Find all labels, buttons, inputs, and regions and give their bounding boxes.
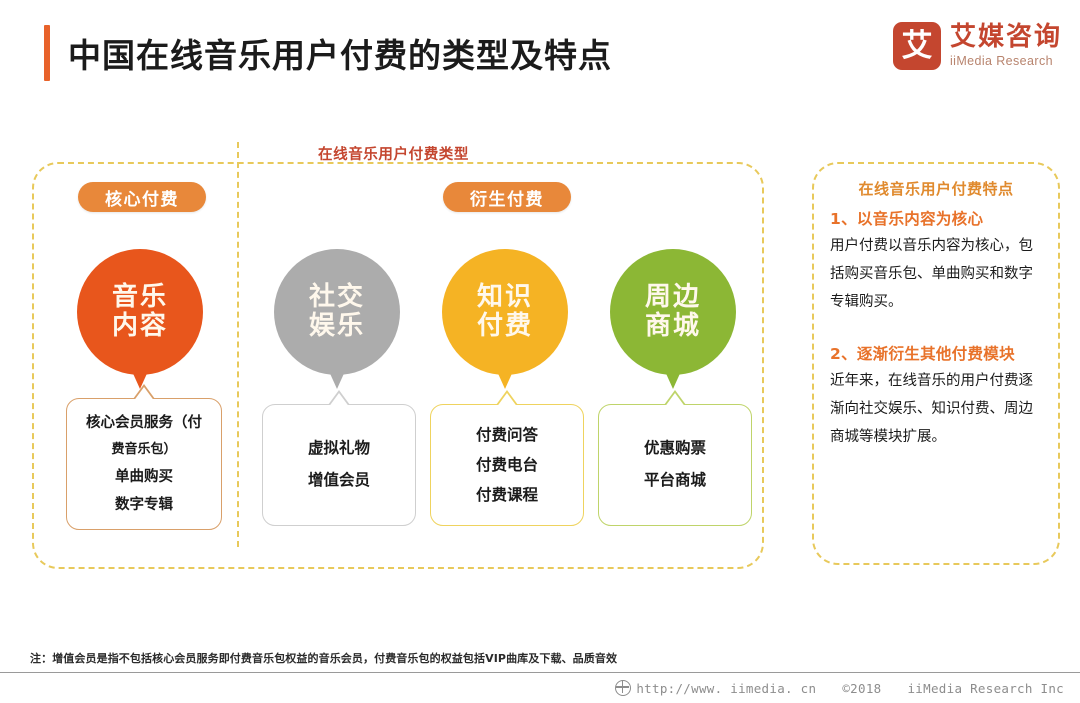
balloon-social-entertainment[interactable]: 社交 娱乐 xyxy=(274,249,400,375)
balloon-disc: 周边 商城 xyxy=(610,249,736,375)
footer-url: http://www. iimedia. cn xyxy=(636,681,816,696)
callout-line: 数字专辑 xyxy=(86,491,202,519)
footer-company: iiMedia Research Inc xyxy=(907,681,1064,696)
footer-url-item[interactable]: http://www. iimedia. cn xyxy=(615,680,816,696)
callout-line: 平台商城 xyxy=(644,465,706,497)
infographic-canvas: 中国在线音乐用户付费的类型及特点 艾 艾媒咨询 iiMedia Research… xyxy=(0,0,1080,703)
logo-glyph: 艾 xyxy=(893,22,941,70)
callout-line: 付费电台 xyxy=(476,450,538,480)
footer-bar: http://www. iimedia. cn ©2018 iiMedia Re… xyxy=(0,673,1080,703)
characteristic-heading-2: 2、逐渐衍生其他付费模块 xyxy=(830,342,1042,364)
footer-copyright: ©2018 xyxy=(842,681,881,696)
pill-core-payment[interactable]: 核心付费 xyxy=(78,182,206,212)
balloon-line-1: 音乐 xyxy=(112,283,168,312)
characteristic-heading-1: 1、以音乐内容为核心 xyxy=(830,207,1042,229)
balloon-line-1: 社交 xyxy=(309,283,365,312)
callout-line: 增值会员 xyxy=(308,465,370,497)
core-derived-divider xyxy=(237,142,239,547)
callout-line: 单曲购买 xyxy=(86,463,202,491)
callout-lines: 付费问答 付费电台 付费课程 xyxy=(468,420,546,511)
characteristics-panel: 在线音乐用户付费特点 1、以音乐内容为核心 用户付费以音乐内容为核心，包括购买音… xyxy=(812,162,1060,565)
callout-knowledge-payment: 付费问答 付费电台 付费课程 xyxy=(430,404,584,526)
callout-line: 付费课程 xyxy=(476,480,538,510)
callout-line: 优惠购票 xyxy=(644,433,706,465)
callout-peripheral-mall: 优惠购票 平台商城 xyxy=(598,404,752,526)
balloon-tail-icon xyxy=(664,369,682,389)
logo-name-en: iiMedia Research xyxy=(950,54,1062,69)
logo-name-cn: 艾媒咨询 xyxy=(950,23,1062,51)
callout-music-content: 核心会员服务（付 费音乐包） 单曲购买 数字专辑 xyxy=(66,398,222,530)
characteristics-title: 在线音乐用户付费特点 xyxy=(830,178,1042,199)
brand-logo: 艾 艾媒咨询 iiMedia Research xyxy=(893,22,1062,70)
characteristic-body-1: 用户付费以音乐内容为核心，包括购买音乐包、单曲购买和数字专辑购买。 xyxy=(830,233,1042,316)
balloon-line-1: 周边 xyxy=(645,283,701,312)
callout-notch-inner-icon xyxy=(496,393,518,408)
balloon-line-1: 知识 xyxy=(477,283,533,312)
footnote: 注：增值会员是指不包括核心会员服务即付费音乐包权益的音乐会员，付费音乐包的权益包… xyxy=(30,650,617,666)
callout-lines: 虚拟礼物 增值会员 xyxy=(300,433,378,497)
logo-text: 艾媒咨询 iiMedia Research xyxy=(950,23,1062,68)
balloon-peripheral-mall[interactable]: 周边 商城 xyxy=(610,249,736,375)
balloon-knowledge-payment[interactable]: 知识 付费 xyxy=(442,249,568,375)
callout-line: 核心会员服务（付 xyxy=(86,409,202,437)
callout-line: 虚拟礼物 xyxy=(308,433,370,465)
callout-lines: 核心会员服务（付 费音乐包） 单曲购买 数字专辑 xyxy=(78,409,210,519)
balloon-disc: 知识 付费 xyxy=(442,249,568,375)
callout-notch-inner-icon xyxy=(328,393,350,408)
pill-derived-payment[interactable]: 衍生付费 xyxy=(443,182,571,212)
callout-line: 费音乐包） xyxy=(86,437,202,462)
callout-line: 付费问答 xyxy=(476,420,538,450)
balloon-line-2: 娱乐 xyxy=(309,312,365,341)
globe-icon xyxy=(615,680,631,696)
callout-notch-inner-icon xyxy=(664,393,686,408)
page-title: 中国在线音乐用户付费的类型及特点 xyxy=(68,29,612,77)
balloon-line-2: 商城 xyxy=(645,312,701,341)
callout-social-entertainment: 虚拟礼物 增值会员 xyxy=(262,404,416,526)
balloon-tail-icon xyxy=(328,369,346,389)
balloon-music-content[interactable]: 音乐 内容 xyxy=(77,249,203,375)
page-header: 中国在线音乐用户付费的类型及特点 艾 艾媒咨询 iiMedia Research xyxy=(0,0,1080,108)
balloon-line-2: 内容 xyxy=(112,312,168,341)
characteristic-body-2: 近年来，在线音乐的用户付费逐渐向社交娱乐、知识付费、周边商城等模块扩展。 xyxy=(830,368,1042,451)
balloon-disc: 社交 娱乐 xyxy=(274,249,400,375)
payment-type-caption: 在线音乐用户付费类型 xyxy=(318,143,469,164)
logo-mark-icon: 艾 xyxy=(893,22,941,70)
title-accent-bar xyxy=(44,25,50,81)
balloon-line-2: 付费 xyxy=(477,312,533,341)
balloon-disc: 音乐 内容 xyxy=(77,249,203,375)
balloon-tail-icon xyxy=(496,369,514,389)
callout-lines: 优惠购票 平台商城 xyxy=(636,433,714,497)
callout-notch-inner-icon xyxy=(133,387,155,402)
